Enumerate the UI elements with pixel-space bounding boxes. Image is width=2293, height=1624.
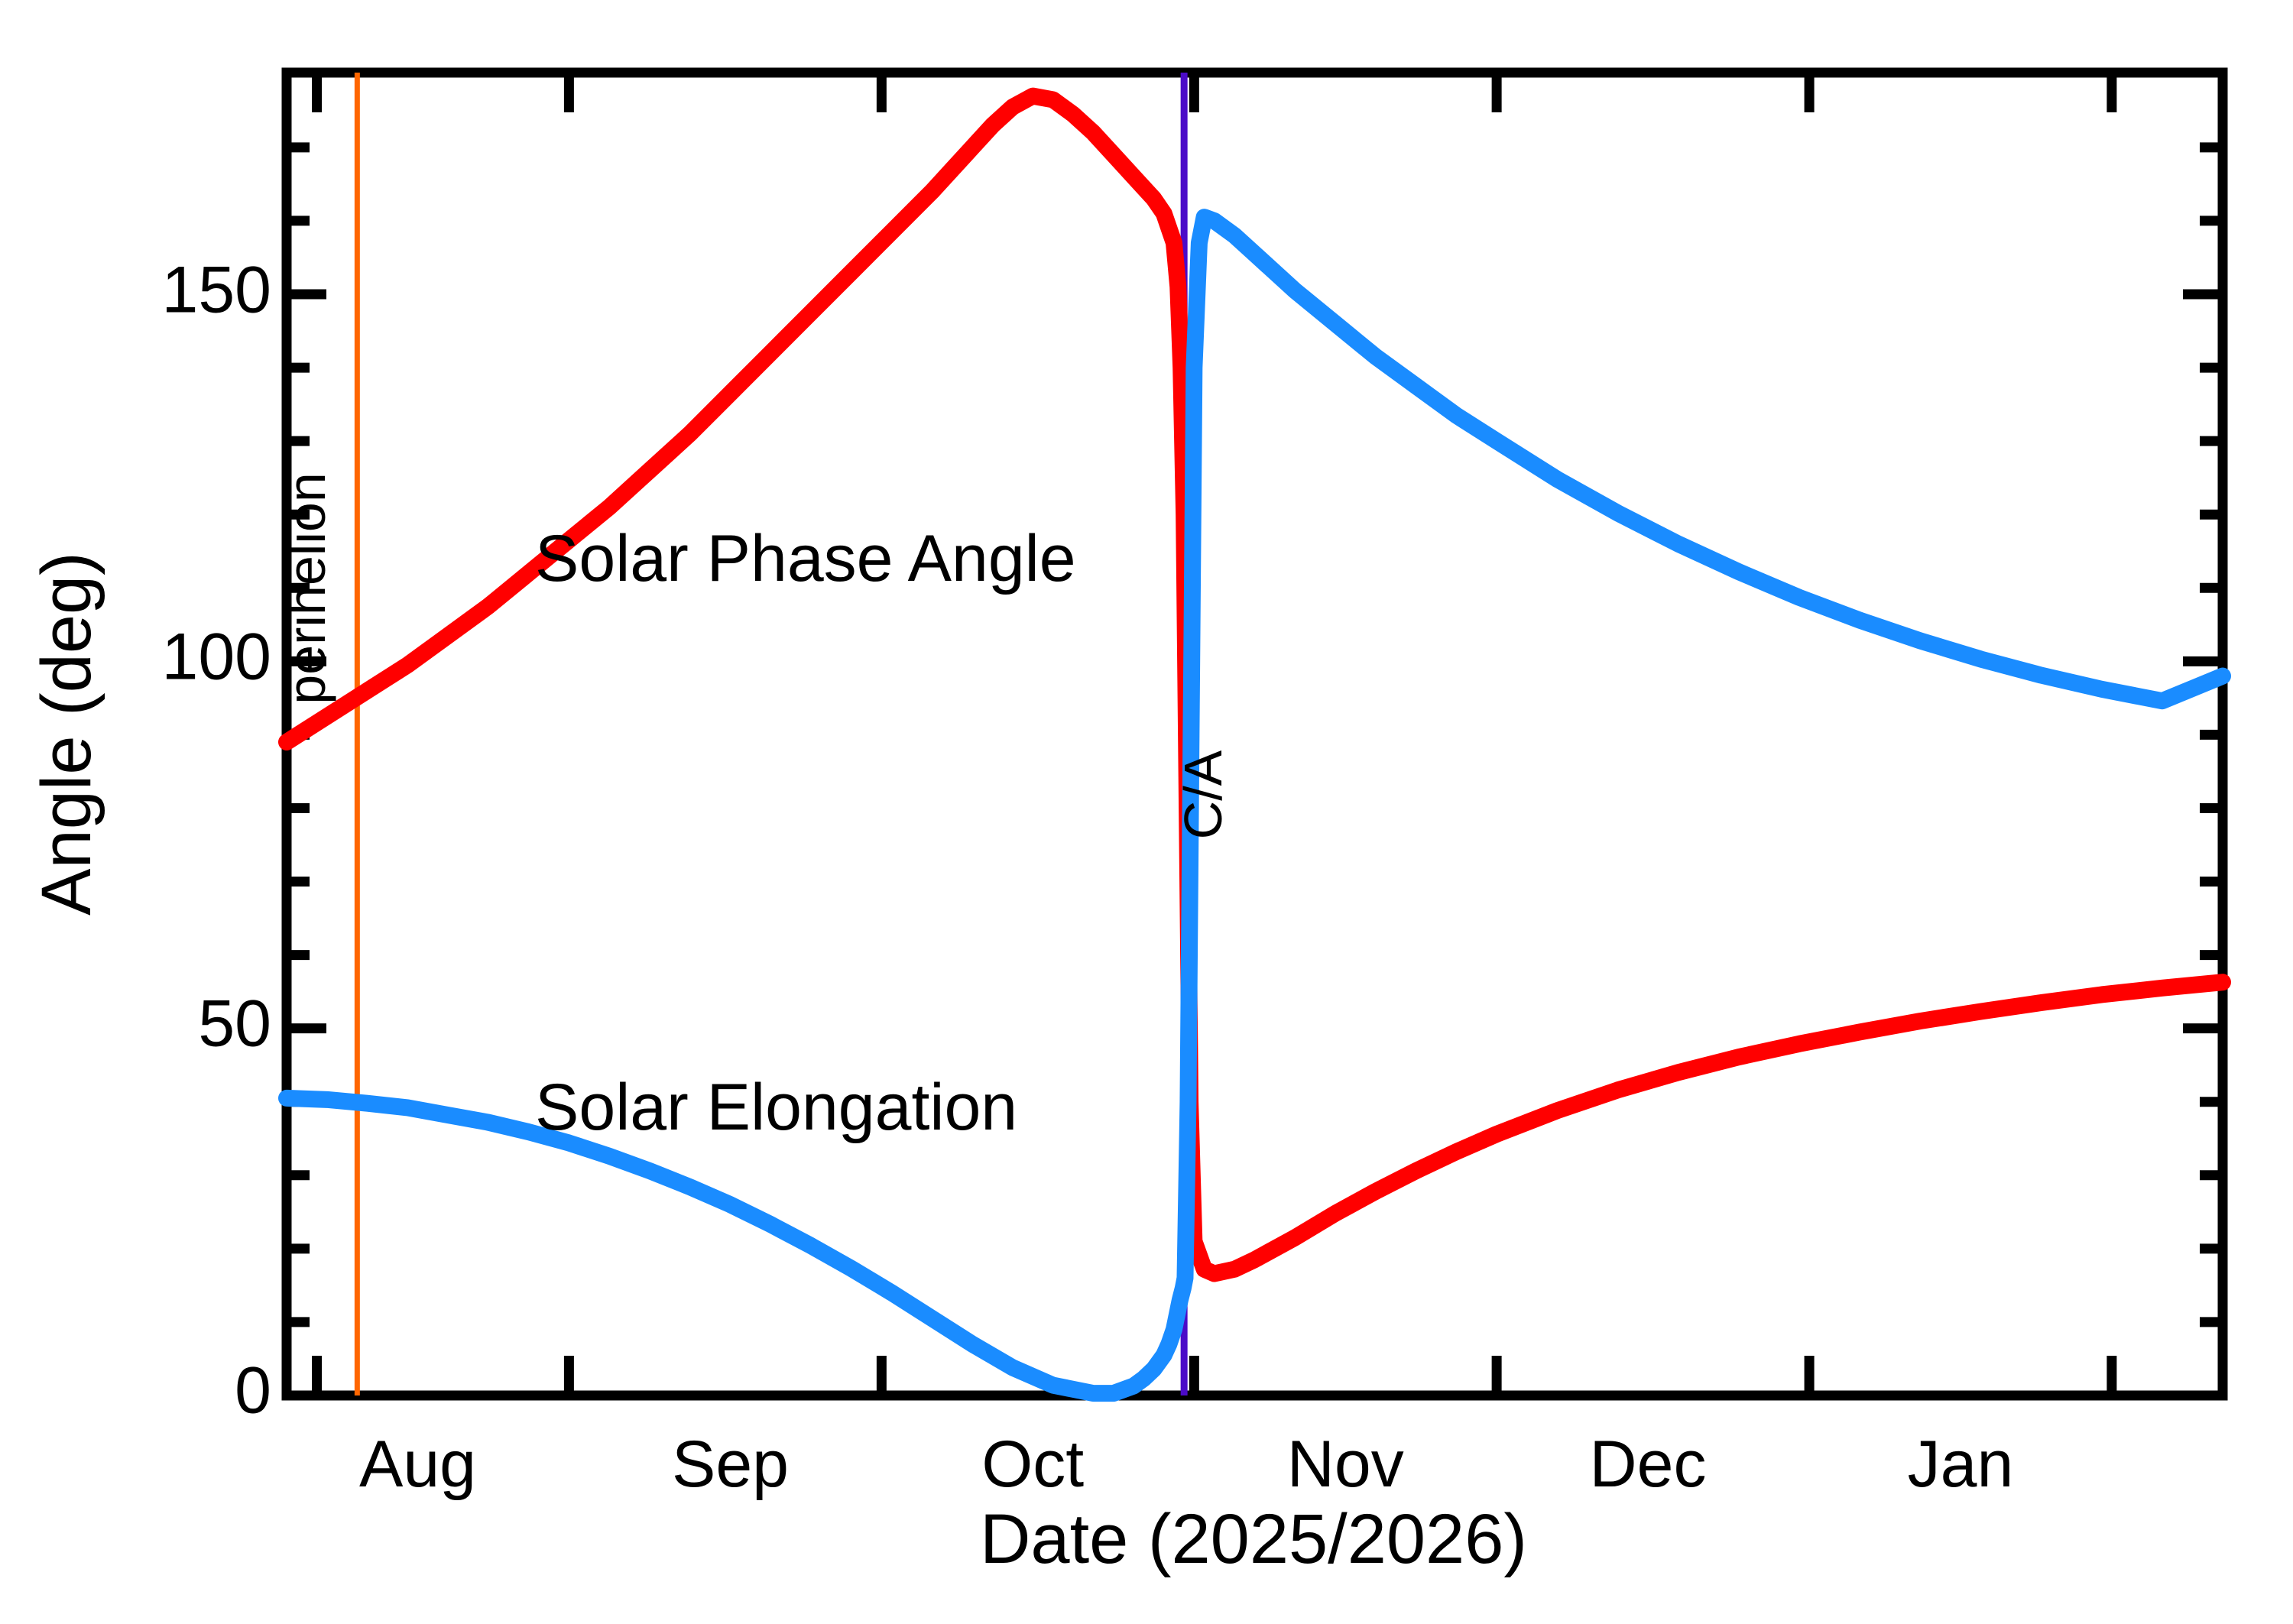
series-label-solar-phase-angle: Solar Phase Angle [535, 522, 1076, 595]
y-tick-label-0: 0 [235, 1354, 271, 1428]
x-tick-label-aug: Aug [359, 1428, 476, 1501]
y-axis-title: Angle (deg) [28, 552, 105, 916]
y-tick-label-150: 150 [162, 254, 272, 327]
solar-geometry-chart: 0 50 100 150 AugSepOctNovDecJan Angle (d… [0, 0, 2293, 1624]
x-tick-label-jan: Jan [1908, 1428, 2014, 1501]
x-tick-label-dec: Dec [1590, 1428, 1707, 1501]
x-tick-label-oct: Oct [981, 1428, 1084, 1501]
x-axis-title: Date (2025/2026) [980, 1500, 1527, 1578]
y-tick-label-100: 100 [162, 621, 272, 694]
chart-root: 0 50 100 150 AugSepOctNovDecJan Angle (d… [0, 0, 2293, 1624]
series-label-solar-elongation: Solar Elongation [535, 1071, 1017, 1144]
x-tick-label-nov: Nov [1287, 1428, 1404, 1501]
x-tick-label-sep: Sep [672, 1428, 789, 1501]
close-approach-marker-label: C/A [1173, 750, 1233, 839]
y-tick-label-50: 50 [198, 987, 271, 1061]
perihelion-marker-label: perihelion [277, 472, 336, 705]
